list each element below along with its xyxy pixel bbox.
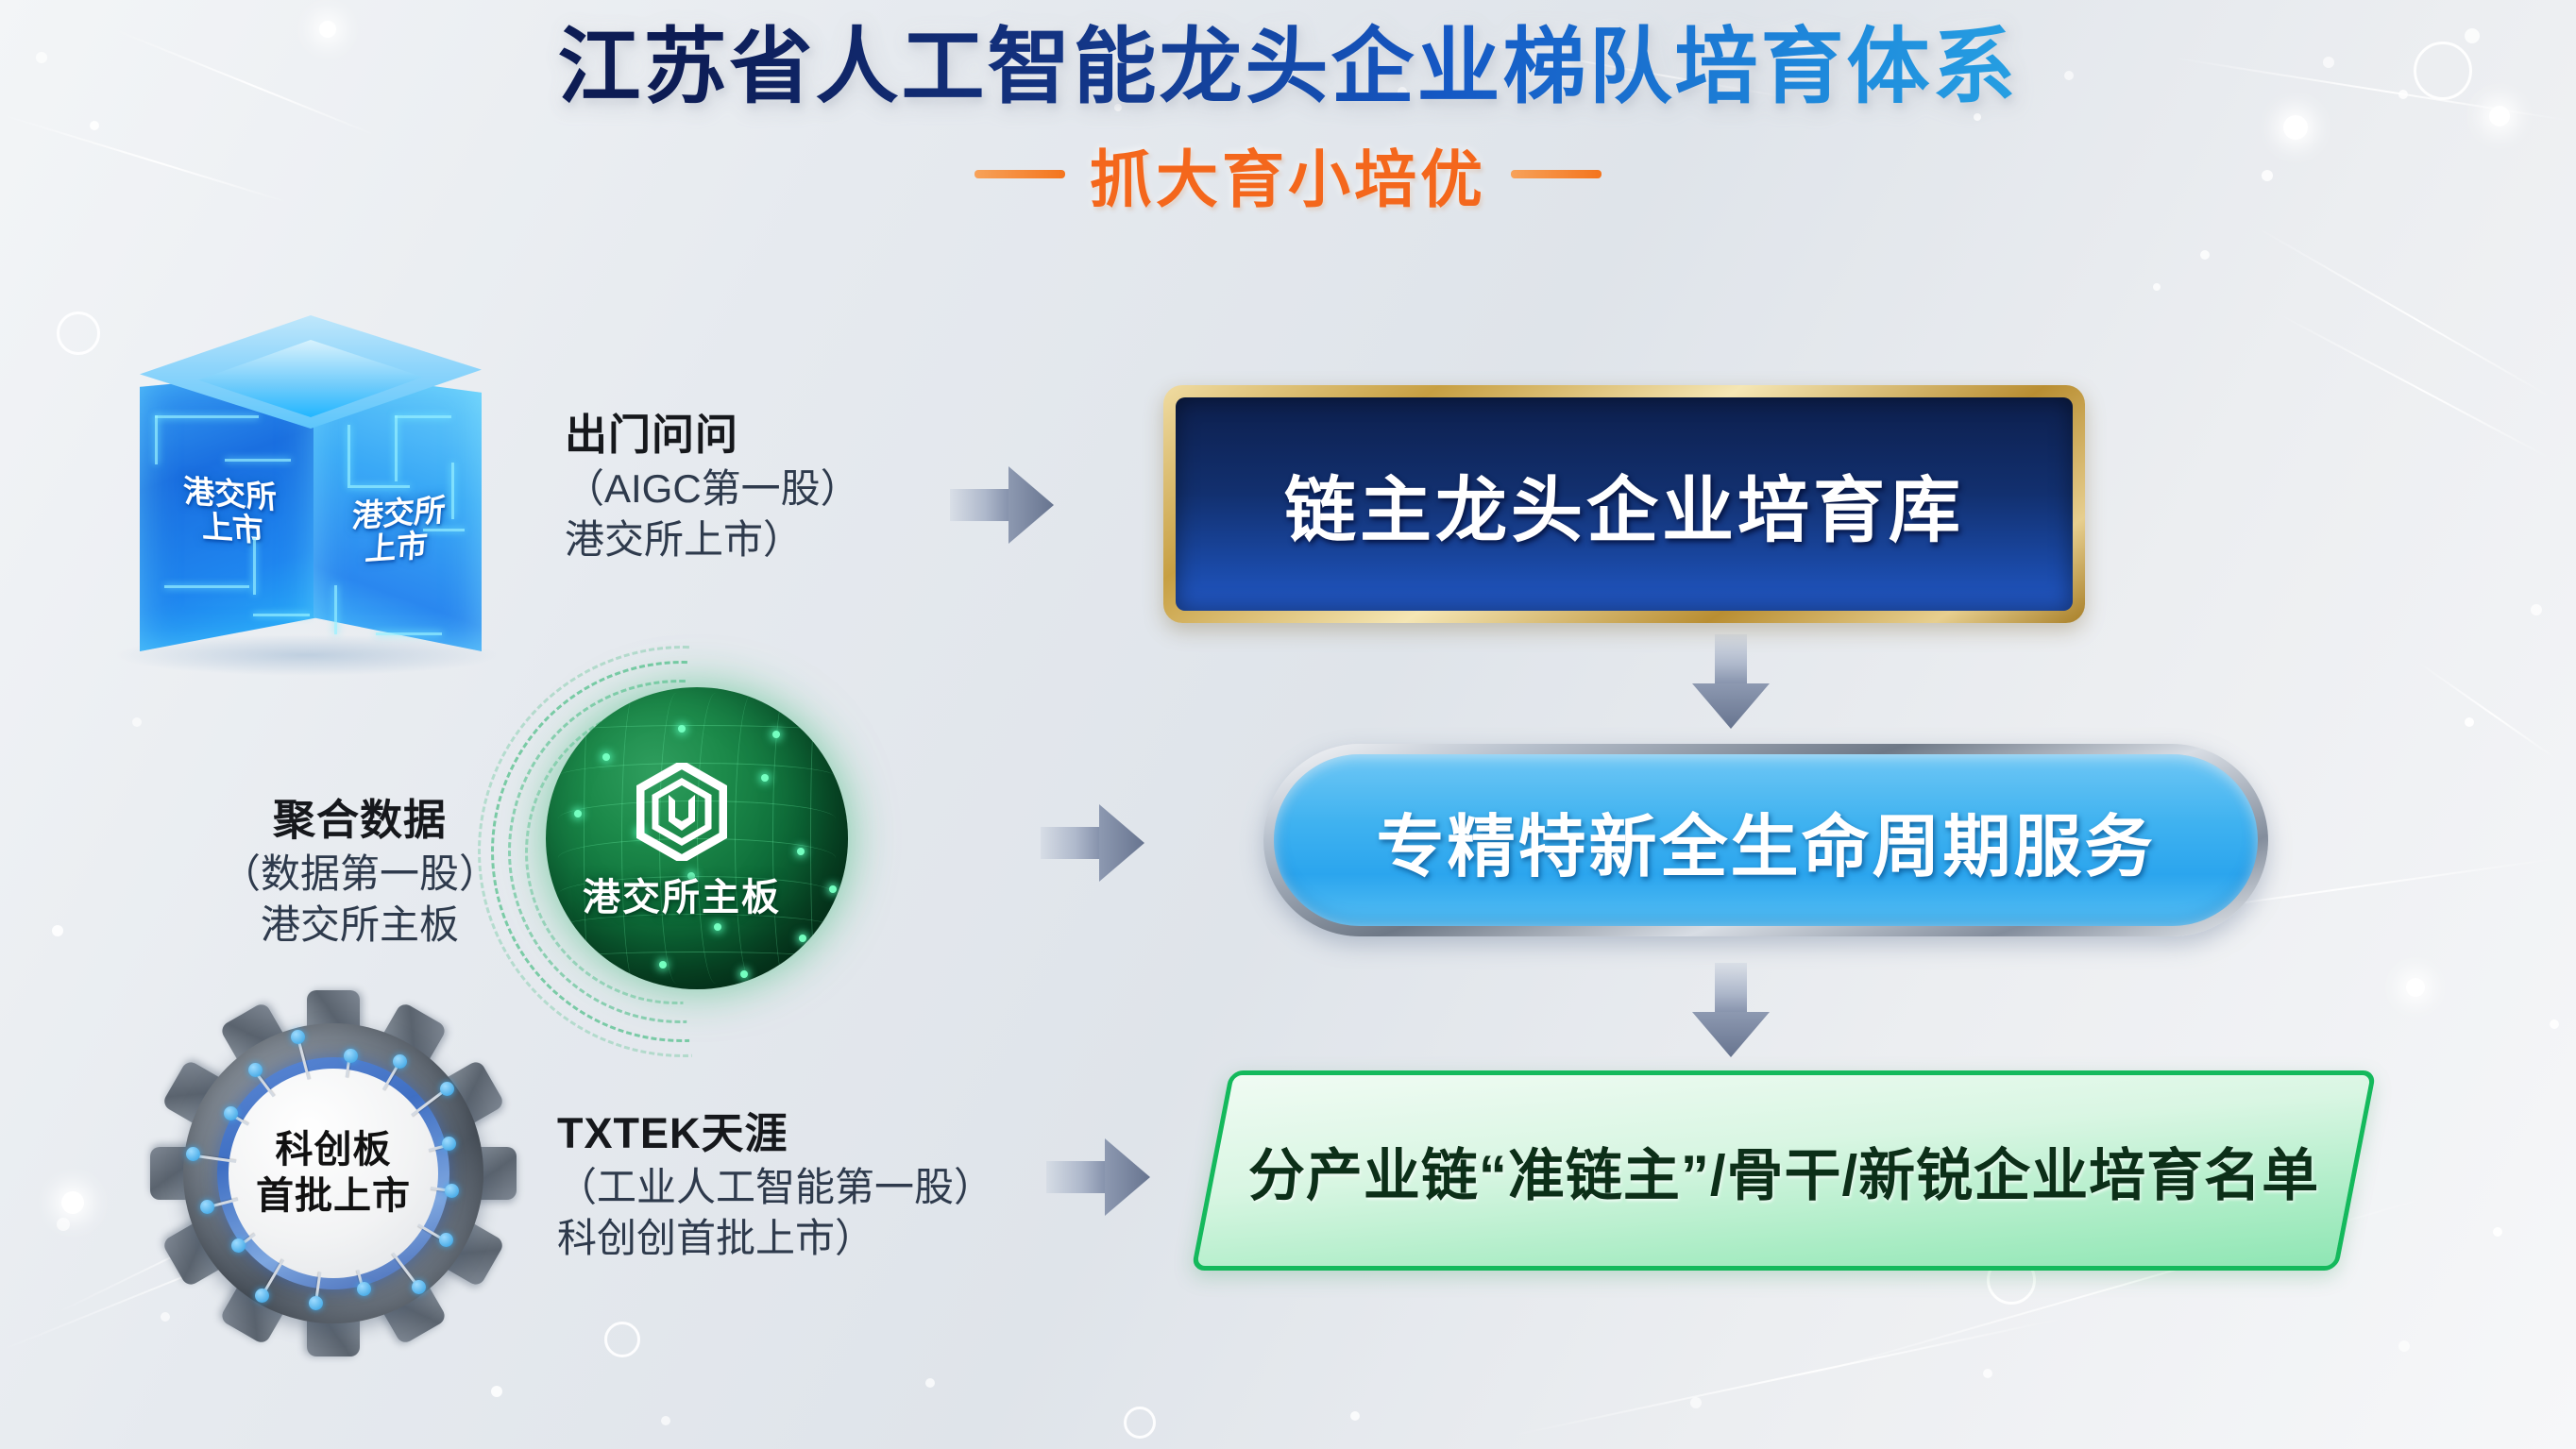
cube-circuit-line: [253, 614, 310, 616]
bg-dot: [2153, 283, 2161, 291]
star-market-gear-icon: 科创板 首批上市: [159, 999, 508, 1348]
bg-dot: [1350, 1411, 1360, 1421]
gear-circuit-node: [248, 1063, 263, 1077]
arrow-down-gold-to-blue: [1692, 634, 1770, 729]
sphere-longitude: [735, 693, 770, 983]
note-chumenwenwen: 出门问问 （AIGC第一股） 港交所上市）: [565, 408, 860, 566]
sphere-node: [740, 970, 748, 978]
sphere-node: [678, 725, 686, 733]
cube-circuit-line: [164, 585, 249, 588]
blue-box-inner: 专精特新全生命周期服务: [1274, 754, 2258, 926]
bg-dot: [132, 717, 142, 727]
note-1-line2: （AIGC第一股）: [565, 463, 860, 515]
cube-circuit-line: [376, 632, 442, 635]
bg-ring: [1124, 1407, 1156, 1439]
cube-circuit-line: [347, 425, 350, 485]
gold-box-label: 链主龙头企业培育库: [1284, 452, 1964, 556]
gear-circuit-node: [445, 1184, 459, 1198]
bg-dot: [2200, 250, 2210, 260]
bg-dot: [2398, 1340, 2410, 1352]
arrow-shaft: [1041, 827, 1105, 859]
bg-dot: [2465, 717, 2474, 727]
sphere-node: [602, 753, 610, 761]
sphere-latitude: [558, 952, 836, 967]
bg-dot: [57, 1218, 70, 1231]
note-2-line2: （数据第一股）: [185, 849, 534, 901]
bg-dot: [2550, 1019, 2559, 1029]
note-2-head: 聚合数据: [185, 793, 534, 849]
arrow-head: [1008, 466, 1054, 544]
cube-circuit-line: [253, 538, 256, 595]
cube-circuit-line: [395, 415, 451, 418]
arrow-shaft: [1046, 1161, 1110, 1193]
note-2-line3: 港交所主板: [185, 900, 534, 952]
cube-circuit-line: [395, 415, 398, 481]
bg-streak: [2416, 661, 2557, 760]
gear-label-line2: 首批上市: [256, 1173, 411, 1220]
cube-circuit-line: [334, 585, 337, 634]
gold-framed-box[interactable]: 链主龙头企业培育库: [1163, 385, 2085, 623]
gear-circuit-node: [439, 1233, 453, 1247]
bg-dot: [1983, 1369, 1992, 1378]
note-3-line2: （工业人工智能第一股）: [557, 1162, 993, 1214]
note-txtek: TXTEK天涯 （工业人工智能第一股） 科创创首批上市）: [557, 1106, 993, 1265]
sphere-node: [797, 848, 805, 855]
sphere-node: [714, 923, 721, 931]
bg-dot: [491, 1386, 502, 1397]
blue-box-label: 专精特新全生命周期服务: [1376, 791, 2155, 890]
subtitle-dash-right: [1511, 170, 1602, 178]
arrow-down-blue-to-green: [1692, 963, 1770, 1057]
blue-pill-box[interactable]: 专精特新全生命周期服务: [1263, 744, 2268, 936]
note-3-head: TXTEK天涯: [557, 1106, 993, 1162]
bg-dot: [52, 925, 63, 936]
cube-circuit-line: [347, 485, 410, 488]
bg-dot: [2493, 1227, 2502, 1237]
cube-circuit-line: [155, 415, 259, 418]
cube-label-left: 港交所 上市: [149, 472, 314, 551]
arrow-head: [1105, 1138, 1150, 1216]
note-juhedata: 聚合数据 （数据第一股） 港交所主板: [185, 793, 534, 952]
sphere-node: [659, 961, 667, 969]
sphere-longitude: [810, 693, 824, 983]
bg-glow-dot: [61, 1191, 84, 1214]
bg-dot: [2531, 604, 2542, 615]
page-subtitle: 抓大育小培优: [1090, 129, 1486, 220]
sphere-node: [799, 935, 806, 942]
subtitle-dash-left: [974, 170, 1065, 178]
arrow-right-to-green-box: [1046, 1138, 1152, 1216]
gear-circuit-node: [440, 1082, 454, 1096]
bg-dot: [925, 1378, 935, 1388]
cube-circuit-line: [423, 529, 465, 531]
hkex-mainboard-sphere-icon: 港交所主板: [483, 661, 880, 1057]
gear-circuit-node: [357, 1282, 371, 1296]
sphere-node: [574, 810, 582, 817]
gear-circuit-node: [255, 1289, 269, 1303]
cube-circuit-line: [225, 459, 291, 462]
bg-ring: [604, 1322, 640, 1357]
arrow-shaft: [1715, 963, 1747, 1018]
page-title: 江苏省人工智能龙头企业梯队培育体系: [0, 21, 2576, 114]
gear-circuit-node: [200, 1200, 214, 1214]
hkex-listing-cube-icon: 港交所 上市 港交所 上市: [111, 302, 508, 680]
arrow-head: [1692, 683, 1770, 729]
bg-dot: [1690, 1397, 1702, 1408]
bg-dot: [661, 1416, 670, 1425]
gold-box-inner: 链主龙头企业培育库: [1176, 397, 2073, 611]
title-block: 江苏省人工智能龙头企业梯队培育体系 抓大育小培优: [0, 21, 2576, 220]
note-1-line3: 港交所上市）: [565, 514, 860, 566]
sphere-label: 港交所主板: [483, 867, 880, 921]
gear-center: 科创板 首批上市: [229, 1069, 438, 1278]
bg-glow-dot: [2406, 978, 2425, 997]
bg-ring: [57, 312, 100, 355]
cube-circuit-line: [451, 463, 454, 519]
sphere-node: [761, 774, 769, 782]
gear-label-line1: 科创板: [276, 1127, 392, 1173]
bg-streak: [2257, 227, 2552, 398]
arrow-head: [1099, 804, 1144, 882]
arrow-right-to-blue-box: [1041, 804, 1146, 882]
green-banner-box[interactable]: 分产业链“准链主”/骨干/新锐企业培育名单: [1211, 1070, 2357, 1271]
cube-circuit-line: [155, 415, 158, 464]
sphere-node: [772, 731, 780, 738]
arrow-head: [1692, 1012, 1770, 1057]
gear-circuit-node: [412, 1280, 426, 1294]
arrow-shaft: [950, 489, 1014, 521]
green-box-label: 分产业链“准链主”/骨干/新锐企业培育名单: [1211, 1070, 2357, 1271]
arrow-right-to-gold-box: [950, 466, 1056, 544]
gear-circuit-node: [309, 1296, 323, 1310]
note-1-head: 出门问问: [565, 408, 860, 463]
bg-streak: [2276, 312, 2551, 460]
hexagon-logo-icon: [636, 763, 727, 866]
bg-streak: [1511, 1317, 2065, 1437]
subtitle-row: 抓大育小培优: [0, 129, 2576, 220]
note-3-line3: 科创创首批上市）: [557, 1213, 993, 1265]
gear-circuit-node: [344, 1049, 358, 1063]
arrow-shaft: [1715, 634, 1747, 689]
